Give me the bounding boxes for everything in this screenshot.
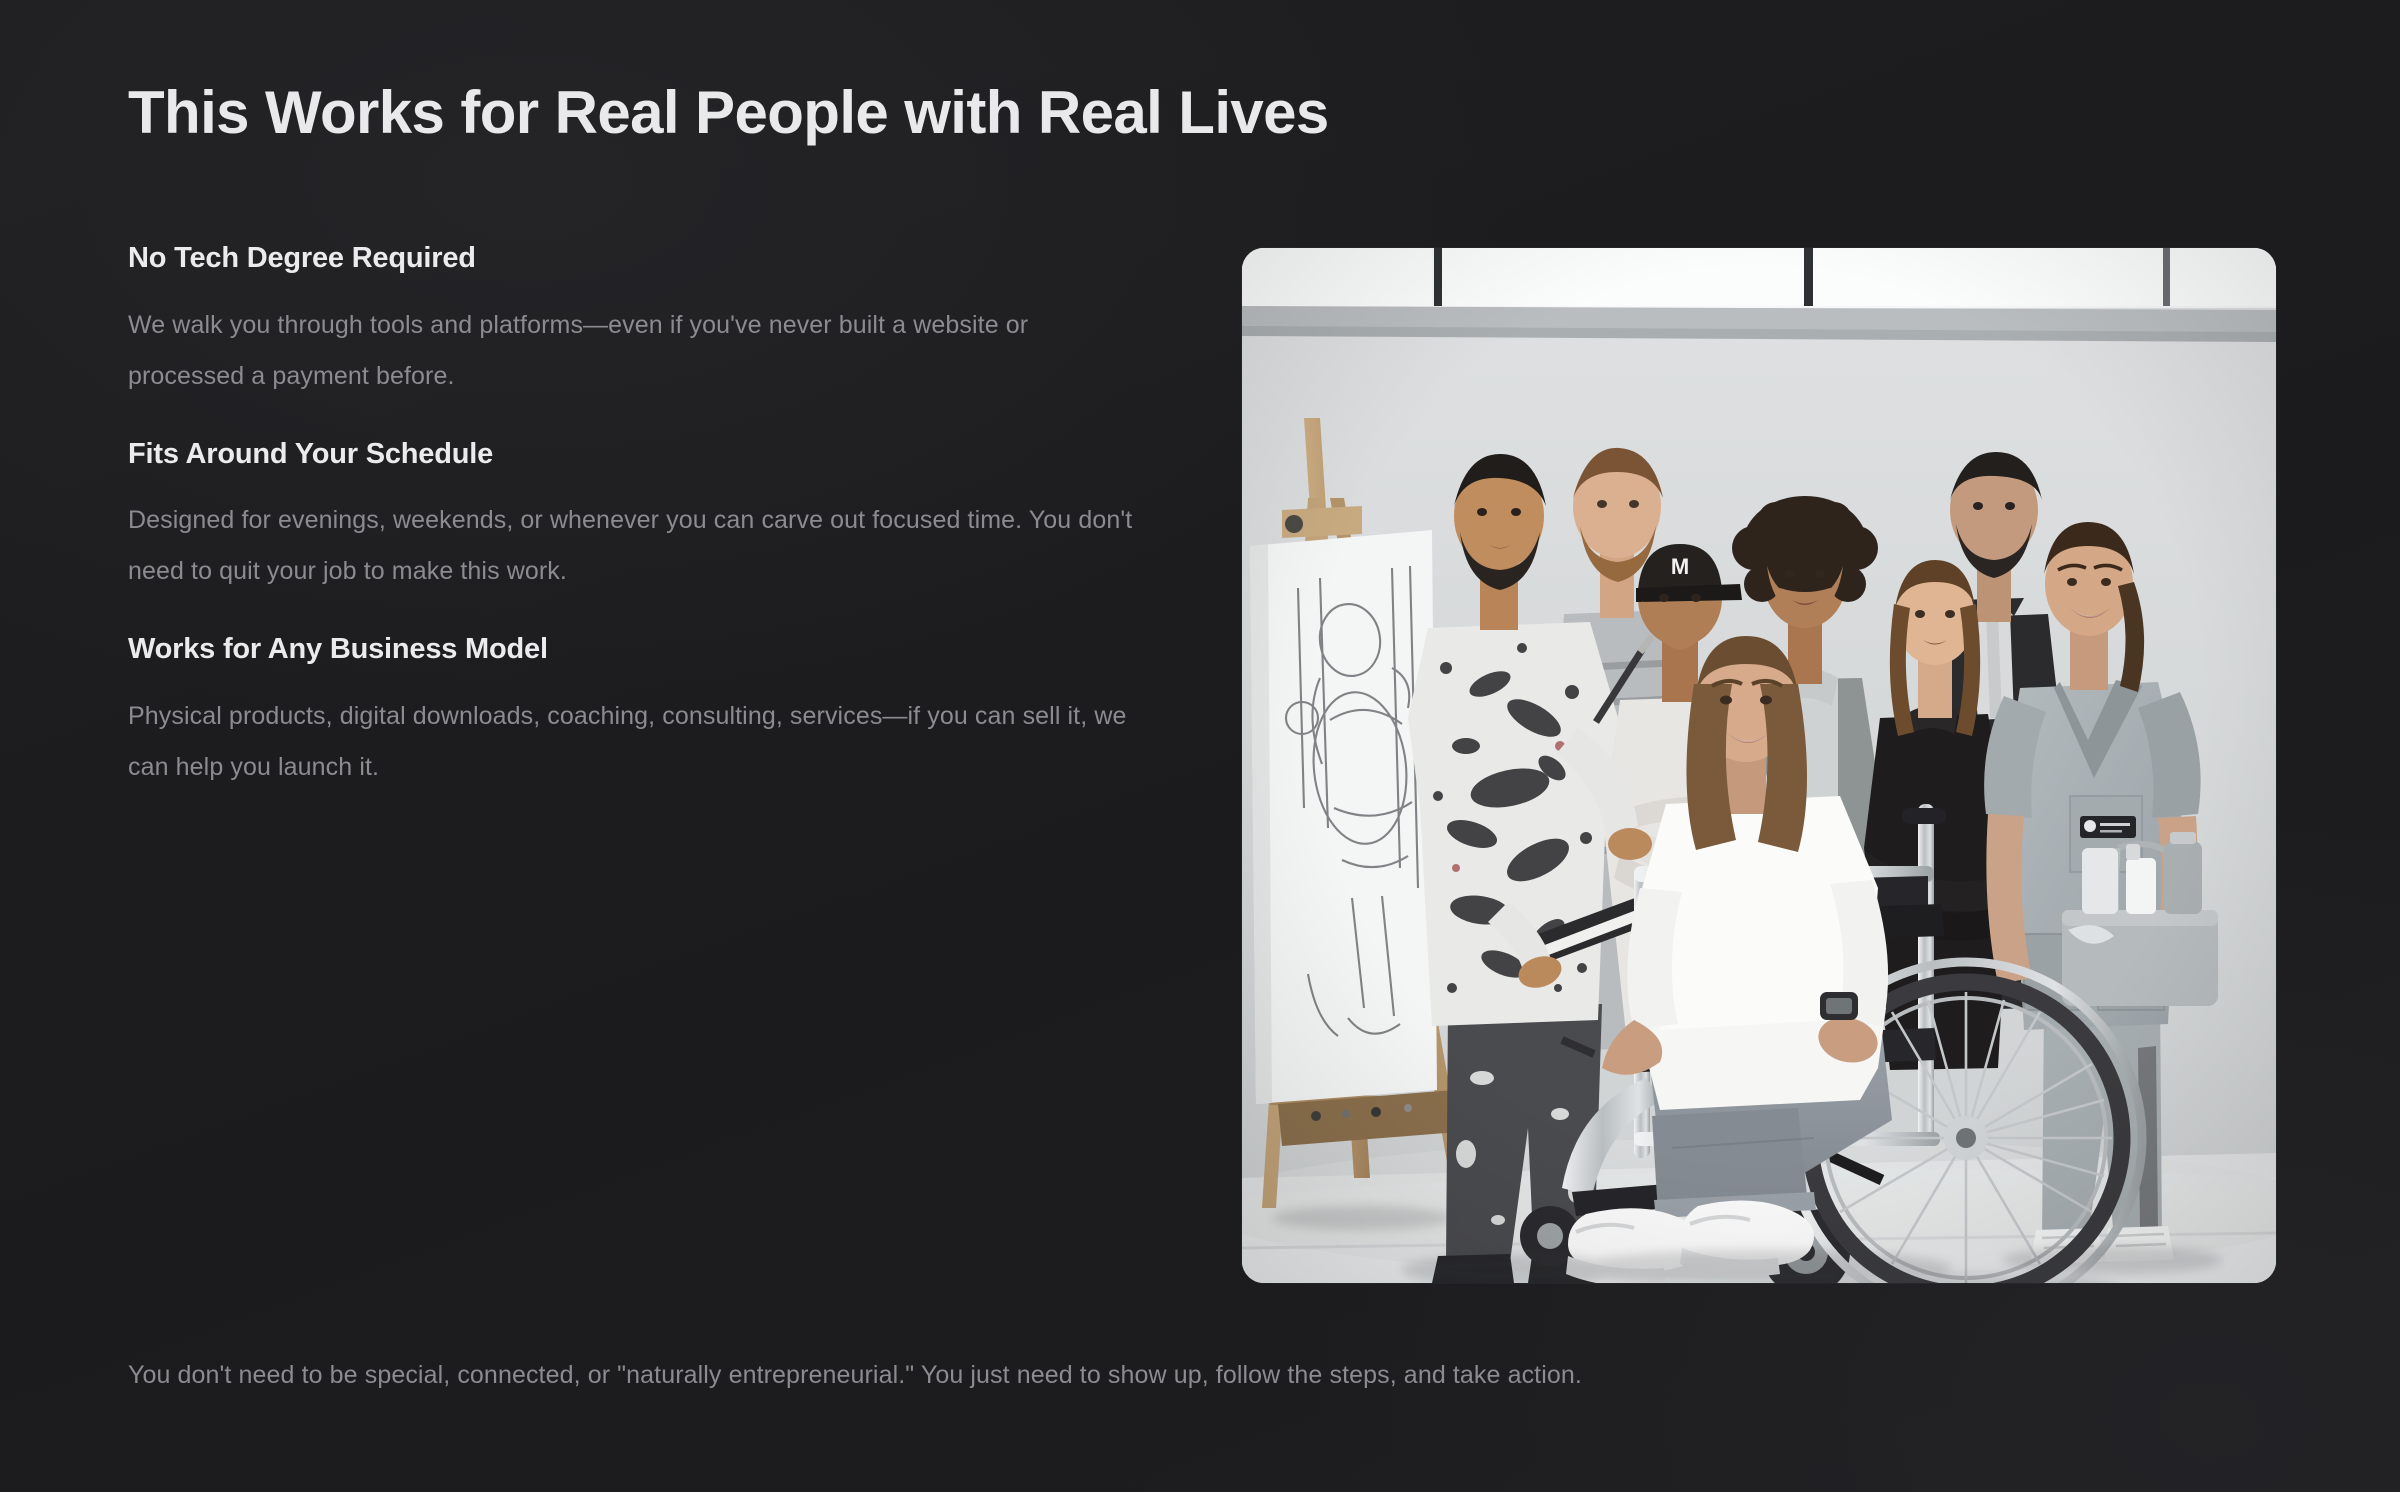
- feature-list: No Tech Degree Required We walk you thro…: [128, 240, 1158, 793]
- photo-vignette: [1242, 248, 2276, 1283]
- feature-title: Fits Around Your Schedule: [128, 436, 1158, 474]
- feature-item-fits-schedule: Fits Around Your Schedule Designed for e…: [128, 436, 1158, 598]
- group-photo: Diverse group of eight people in a brigh…: [1242, 248, 2276, 1283]
- feature-body: Physical products, digital downloads, co…: [128, 691, 1143, 793]
- footer-note: You don't need to be special, connected,…: [128, 1357, 1582, 1395]
- feature-title: Works for Any Business Model: [128, 631, 1158, 669]
- feature-body: Designed for evenings, weekends, or when…: [128, 495, 1143, 597]
- feature-item-any-business-model: Works for Any Business Model Physical pr…: [128, 631, 1158, 793]
- feature-body: We walk you through tools and platforms—…: [128, 300, 1143, 402]
- group-photo-illustration: Diverse group of eight people in a brigh…: [1242, 248, 2276, 1283]
- slide-root: This Works for Real People with Real Liv…: [0, 0, 2400, 1492]
- feature-item-no-tech-degree: No Tech Degree Required We walk you thro…: [128, 240, 1158, 402]
- page-title: This Works for Real People with Real Liv…: [128, 78, 1329, 147]
- feature-title: No Tech Degree Required: [128, 240, 1158, 278]
